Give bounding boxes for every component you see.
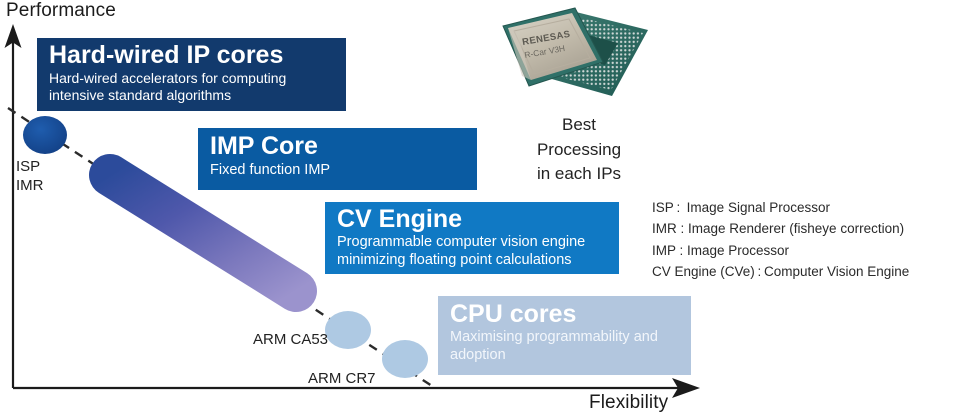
legend-row: IMR : Image Renderer (fisheye correction… (652, 218, 909, 239)
legend-row: ISP : Image Signal Processor (652, 197, 909, 218)
label-isp-imr: ISP IMR (16, 157, 44, 195)
chip-caption-line-1: Best (519, 113, 639, 138)
callout-title: CV Engine (337, 206, 607, 233)
label-isp: ISP (16, 158, 40, 175)
data-point-capsule-imp-cv (110, 175, 296, 291)
abbreviation-legend: ISP : Image Signal Processor IMR : Image… (652, 197, 909, 282)
y-axis (5, 24, 22, 388)
data-point-isp-imr (23, 116, 67, 154)
label-arm-cr7: ARM CR7 (308, 369, 376, 388)
data-point-arm-ca53 (325, 311, 371, 349)
callout-subtitle: Programmable computer vision engine mini… (337, 234, 607, 269)
callout-title: Hard-wired IP cores (49, 42, 334, 69)
performance-flexibility-diagram: Performance Flexibility ISP IMR ARM CA53… (0, 0, 956, 420)
legend-row: IMP : Image Processor (652, 240, 909, 261)
callout-hard-wired-ip-cores[interactable]: Hard-wired IP cores Hard-wired accelerat… (37, 38, 346, 111)
callout-subtitle: Maximising programmability and adoption (450, 329, 679, 364)
data-point-arm-cr7 (382, 340, 428, 378)
label-imr: IMR (16, 177, 44, 194)
callout-cpu-cores[interactable]: CPU cores Maximising programmability and… (438, 296, 691, 375)
callout-cv-engine[interactable]: CV Engine Programmable computer vision e… (325, 202, 619, 274)
label-arm-ca53: ARM CA53 (253, 330, 328, 349)
chip-caption-line-3: in each IPs (519, 162, 639, 187)
callout-imp-core[interactable]: IMP Core Fixed function IMP (198, 128, 477, 190)
chip-caption: Best Processing in each IPs (519, 113, 639, 187)
chip-photo-renesas-rcar-v3h: RENESAS R-Car V3H (472, 2, 654, 110)
callout-subtitle: Fixed function IMP (210, 162, 465, 180)
x-axis-title: Flexibility (589, 392, 668, 414)
callout-title: CPU cores (450, 301, 679, 328)
y-axis-title: Performance (6, 0, 116, 22)
chip-caption-line-2: Processing (519, 138, 639, 163)
legend-row: CV Engine (CVe) : Computer Vision Engine (652, 261, 909, 282)
callout-subtitle: Hard-wired accelerators for computing in… (49, 70, 334, 104)
callout-title: IMP Core (210, 133, 465, 160)
